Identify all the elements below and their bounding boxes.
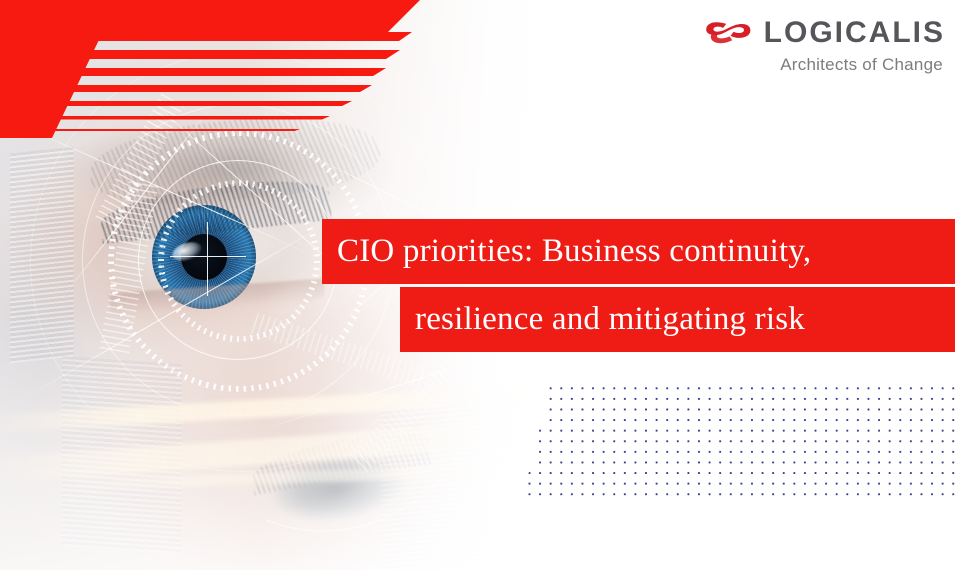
logicalis-ribbon-icon (705, 18, 755, 48)
logo-wordmark: LOGICALIS (764, 18, 945, 48)
red-stripe (0, 50, 400, 59)
red-stripe (0, 68, 386, 76)
red-stripe (0, 85, 372, 92)
red-stripe (0, 101, 352, 106)
hero-title-line-2: resilience and mitigating risk (400, 287, 955, 352)
decorative-dot-grid (500, 380, 955, 502)
hero-title-block: CIO priorities: Business continuity, res… (0, 219, 955, 352)
red-stripe (0, 116, 330, 120)
logicalis-logo[interactable]: LOGICALIS Architects of Change (710, 18, 945, 82)
red-sliced-graphic (0, 0, 460, 150)
logo-row: LOGICALIS (705, 18, 945, 48)
marketing-banner: LOGICALIS Architects of Change CIO prior… (0, 0, 955, 570)
red-stripe (0, 32, 412, 41)
logo-tagline: Architects of Change (780, 55, 943, 75)
hero-title-line-1: CIO priorities: Business continuity, (322, 219, 955, 284)
red-stripe (0, 129, 300, 131)
